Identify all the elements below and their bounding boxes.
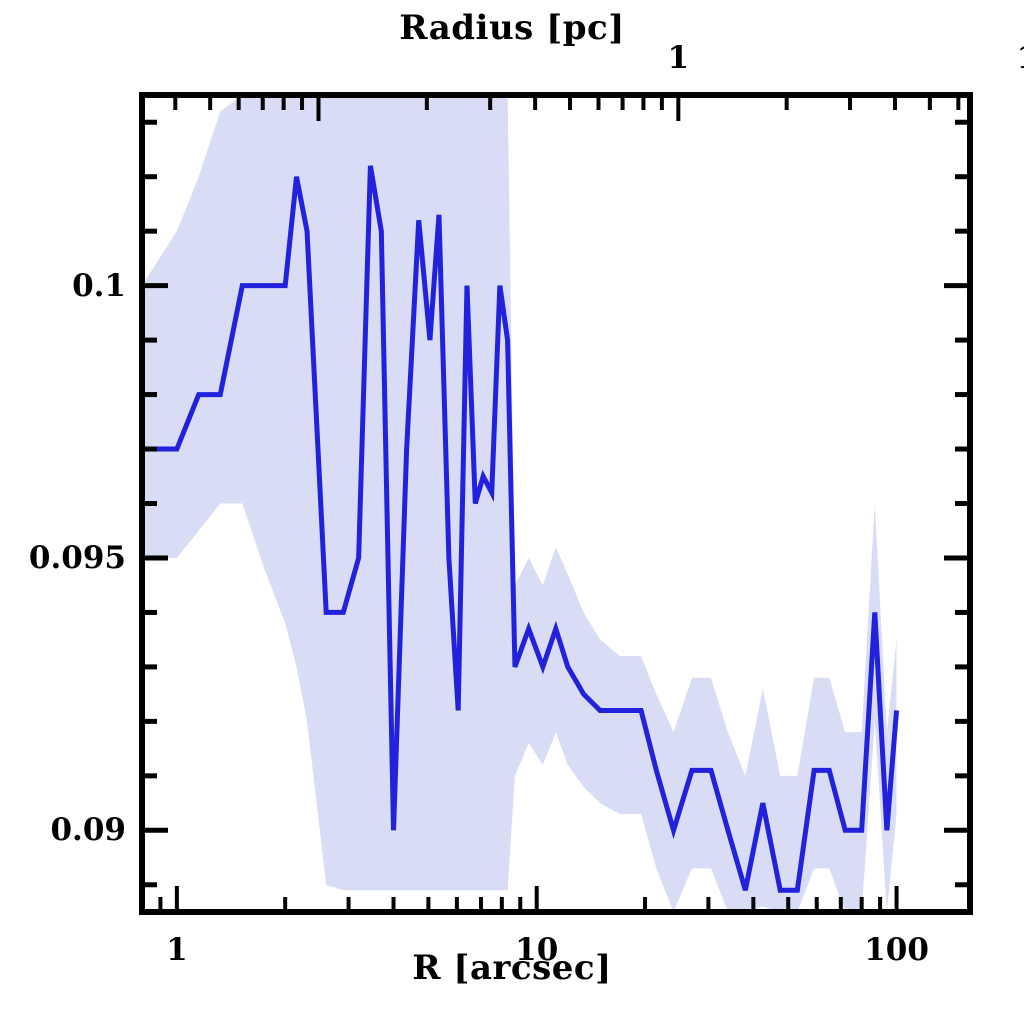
uncertainty-band	[142, 95, 897, 912]
plot-canvas	[0, 0, 1024, 1024]
uncertainty-band-group	[142, 95, 897, 912]
figure-container: Radius [pc] R [arcsec] Mass−to−light rat…	[0, 0, 1024, 1024]
